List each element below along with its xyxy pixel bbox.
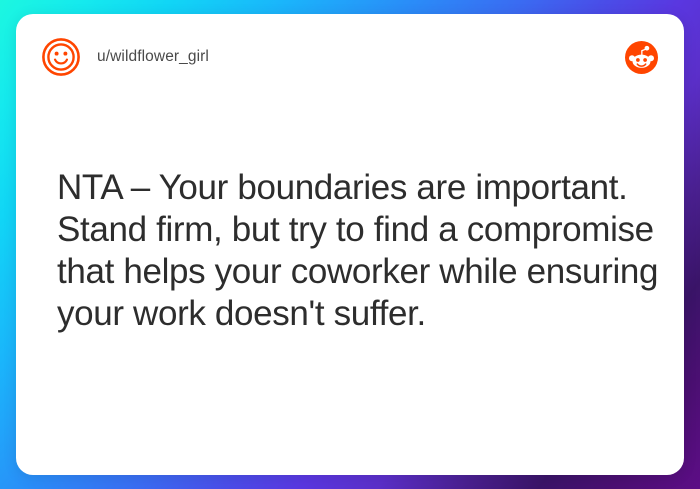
smiley-face-avatar-icon[interactable]	[41, 37, 81, 77]
post-body-text: NTA – Your boundaries are important. Sta…	[57, 167, 667, 335]
card-header: u/wildflower_girl	[16, 14, 684, 100]
username-label: u/wildflower_girl	[97, 49, 209, 65]
screenshot-root: u/wildflower_girl	[0, 0, 700, 489]
reddit-snoo-icon[interactable]	[625, 41, 658, 74]
reddit-comment-card: u/wildflower_girl	[16, 14, 684, 475]
